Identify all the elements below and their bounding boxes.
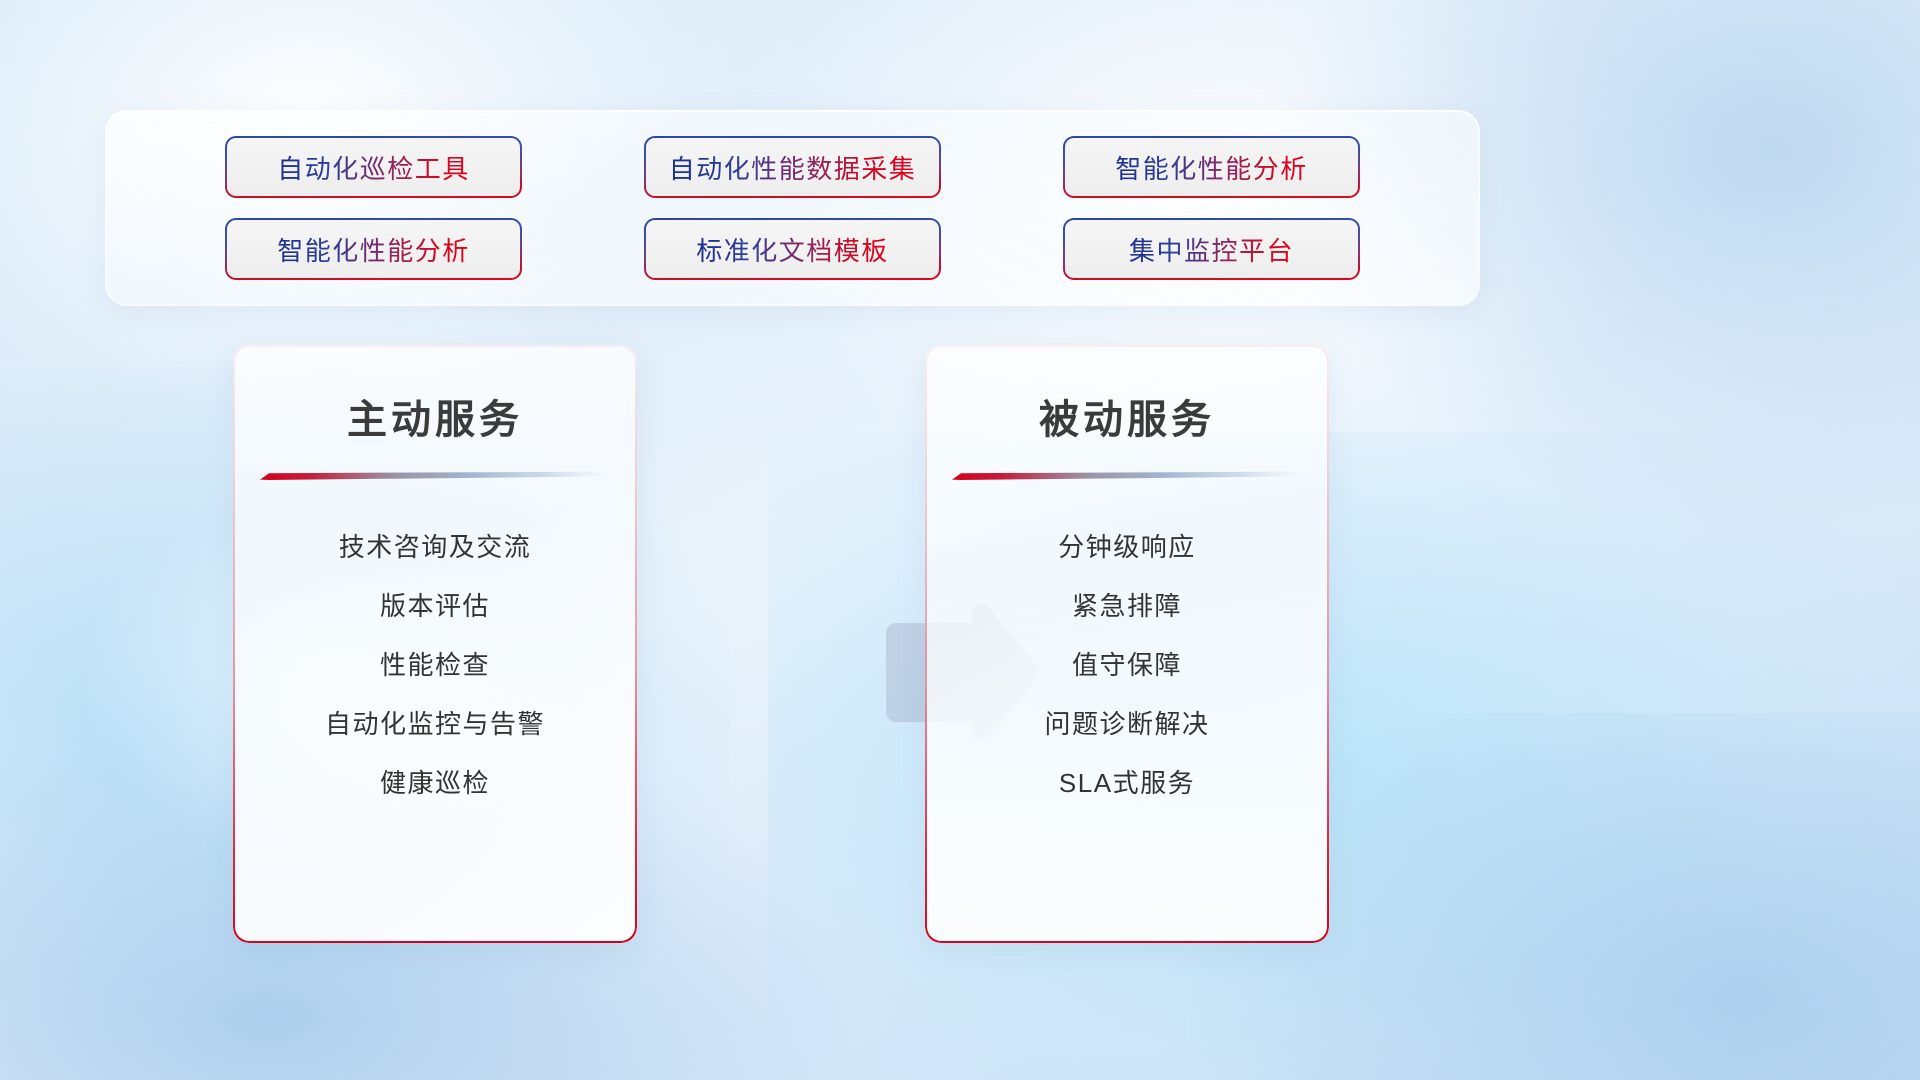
capability-pill[interactable]: 智能化性能分析 [1065,138,1358,196]
service-list-item: 问题诊断解决 [1044,707,1209,741]
capability-pill[interactable]: 自动化性能数据采集 [646,138,939,196]
service-card-title: 主动服务 [233,387,637,445]
service-list-item: 紧急排障 [1072,589,1182,623]
service-list-item: 版本评估 [380,589,490,623]
service-card-list: 技术咨询及交流 版本评估 性能检查 自动化监控与告警 健康巡检 [233,530,637,800]
service-list-item: 分钟级响应 [1058,530,1196,564]
capabilities-panel: 自动化巡检工具 自动化性能数据采集 智能化性能分析 智能化性能分析 标准化文档模… [105,110,1480,306]
service-list-item: 技术咨询及交流 [339,530,532,564]
capability-pill-label: 智能化性能分析 [277,231,470,268]
service-card-reactive: 被动服务 分钟级响应 紧急排障 值守保障 问题诊断解决 SLA式服务 [925,345,1329,943]
card-divider-accent [952,471,1302,480]
service-list-item: 自动化监控与告警 [325,707,545,741]
capabilities-grid: 自动化巡检工具 自动化性能数据采集 智能化性能分析 智能化性能分析 标准化文档模… [106,111,1479,305]
service-list-item: 值守保障 [1072,648,1182,682]
service-list-item: 性能检查 [380,648,490,682]
capability-pill-label: 自动化性能数据采集 [669,149,917,186]
service-list-item: 健康巡检 [380,766,490,800]
capability-pill-label: 智能化性能分析 [1115,149,1308,186]
capability-pill-label: 集中监控平台 [1129,231,1294,268]
capability-pill[interactable]: 标准化文档模板 [646,220,939,278]
service-card-title: 被动服务 [925,387,1329,445]
capability-pill[interactable]: 智能化性能分析 [227,220,520,278]
card-divider-accent [260,471,610,480]
capability-pill-label: 标准化文档模板 [696,231,889,268]
capability-pill-label: 自动化巡检工具 [277,149,470,186]
service-list-item: SLA式服务 [1059,766,1195,800]
service-card-list: 分钟级响应 紧急排障 值守保障 问题诊断解决 SLA式服务 [925,530,1329,800]
capability-pill[interactable]: 自动化巡检工具 [227,138,520,196]
capability-pill[interactable]: 集中监控平台 [1065,220,1358,278]
service-card-proactive: 主动服务 技术咨询及交流 版本评估 性能检查 自动化监控与告警 健康巡检 [233,345,637,943]
